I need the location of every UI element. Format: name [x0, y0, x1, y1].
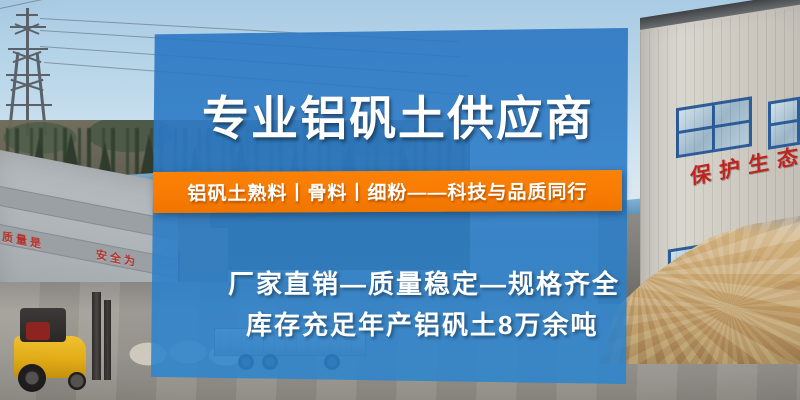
promo-banner: 质量是 安全为	[0, 0, 800, 400]
forklift	[6, 290, 126, 394]
orange-strip-text: 铝矾土熟料丨骨料丨细粉——科技与品质同行	[153, 170, 622, 213]
banner-subline-2: 库存充足年产铝矾土8万余吨	[246, 305, 598, 342]
banner-headline: 专业铝矾土供应商	[202, 80, 594, 149]
window	[676, 96, 752, 158]
banner-subline-1: 厂家直销—质量稳定—规格齐全	[228, 264, 620, 301]
orange-highlight-strip: 铝矾土熟料丨骨料丨细粉——科技与品质同行	[153, 170, 622, 213]
transmission-tower-icon	[6, 8, 52, 136]
